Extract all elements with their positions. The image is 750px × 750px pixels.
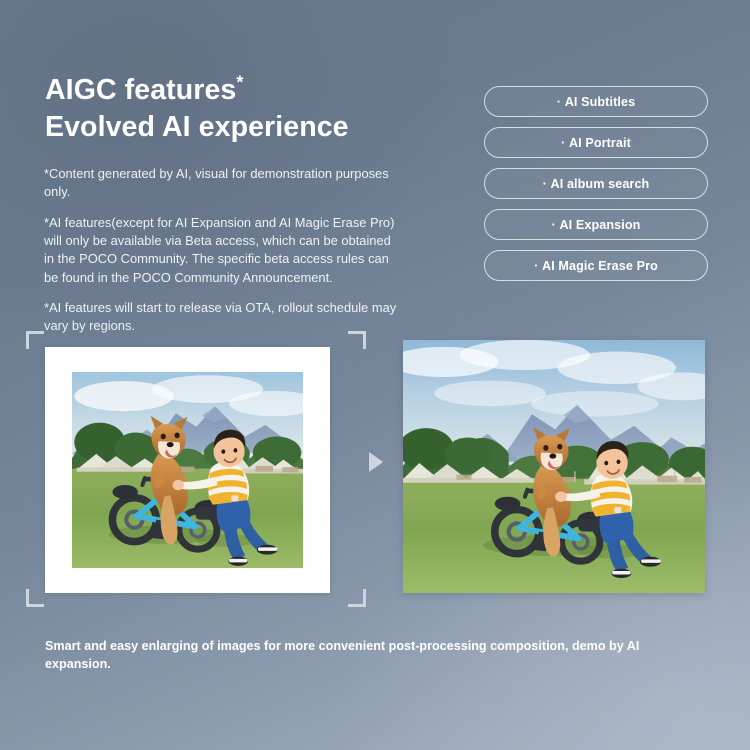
comparison-caption: Smart and easy enlarging of images for m… bbox=[45, 637, 705, 674]
crop-corner-top-left-icon bbox=[26, 331, 44, 349]
feature-pill-label: AI Subtitles bbox=[565, 95, 635, 109]
crop-corner-bottom-left-icon bbox=[26, 589, 44, 607]
feature-pill-ai-subtitles[interactable]: · AI Subtitles bbox=[484, 86, 708, 117]
feature-pill-bullet: · bbox=[543, 177, 547, 191]
poster-canvas: AIGC features* Evolved AI experience *Co… bbox=[0, 0, 750, 750]
feature-pill-bullet: · bbox=[557, 95, 561, 109]
page-title: AIGC features* Evolved AI experience bbox=[45, 72, 349, 146]
feature-pill-ai-expansion[interactable]: · AI Expansion bbox=[484, 209, 708, 240]
before-image-white-matte bbox=[45, 347, 330, 593]
feature-pill-label: AI Portrait bbox=[569, 136, 631, 150]
disclaimer-note: *Content generated by AI, visual for dem… bbox=[44, 165, 404, 202]
feature-pill-label: AI album search bbox=[551, 177, 650, 191]
headline-line-1: AIGC features bbox=[45, 74, 236, 106]
arrow-right-triangle-icon bbox=[369, 452, 383, 472]
disclaimer-notes: *Content generated by AI, visual for dem… bbox=[44, 165, 404, 336]
headline-superscript: * bbox=[236, 73, 243, 93]
disclaimer-note: *AI features will start to release via O… bbox=[44, 299, 404, 336]
before-image-block bbox=[26, 331, 366, 607]
feature-pill-bullet: · bbox=[561, 136, 565, 150]
after-photo bbox=[403, 340, 705, 593]
before-photo bbox=[72, 372, 303, 568]
crop-corner-bottom-right-icon bbox=[348, 589, 366, 607]
feature-pill-list: · AI Subtitles · AI Portrait · AI album … bbox=[484, 86, 708, 281]
feature-pill-label: AI Expansion bbox=[559, 218, 640, 232]
feature-pill-ai-magic-erase-pro[interactable]: · AI Magic Erase Pro bbox=[484, 250, 708, 281]
feature-pill-bullet: · bbox=[534, 259, 538, 273]
feature-pill-label: AI Magic Erase Pro bbox=[542, 259, 658, 273]
feature-pill-ai-album-search[interactable]: · AI album search bbox=[484, 168, 708, 199]
feature-pill-bullet: · bbox=[552, 218, 556, 232]
disclaimer-note: *AI features(except for AI Expansion and… bbox=[44, 214, 404, 287]
feature-pill-ai-portrait[interactable]: · AI Portrait bbox=[484, 127, 708, 158]
headline-line-2: Evolved AI experience bbox=[45, 111, 349, 143]
